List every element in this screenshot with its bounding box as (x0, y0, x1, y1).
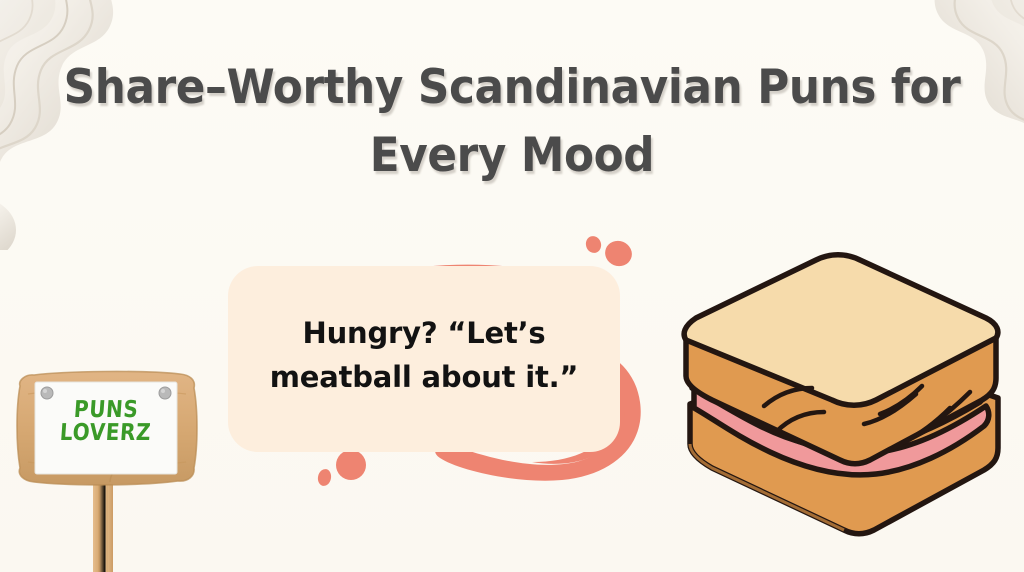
quote-text: Hungry? “Let’s meatball about it.” (254, 311, 594, 399)
title-line-1: Share–Worthy Scandinavian Puns for (36, 54, 988, 122)
signboard: PUNS LOVERZ (4, 358, 210, 572)
sandwich-illustration (668, 248, 1014, 548)
page-title: Share–Worthy Scandinavian Puns for Every… (0, 54, 1024, 189)
dot-large-lower (336, 450, 366, 480)
poster-canvas: Share–Worthy Scandinavian Puns for Every… (0, 0, 1024, 572)
title-line-2: Every Mood (36, 122, 988, 190)
signboard-text: PUNS LOVERZ (46, 384, 166, 456)
signboard-line-1: PUNS (73, 397, 139, 420)
quote-card: Hungry? “Let’s meatball about it.” (228, 266, 620, 452)
signboard-line-2: LOVERZ (60, 420, 153, 443)
